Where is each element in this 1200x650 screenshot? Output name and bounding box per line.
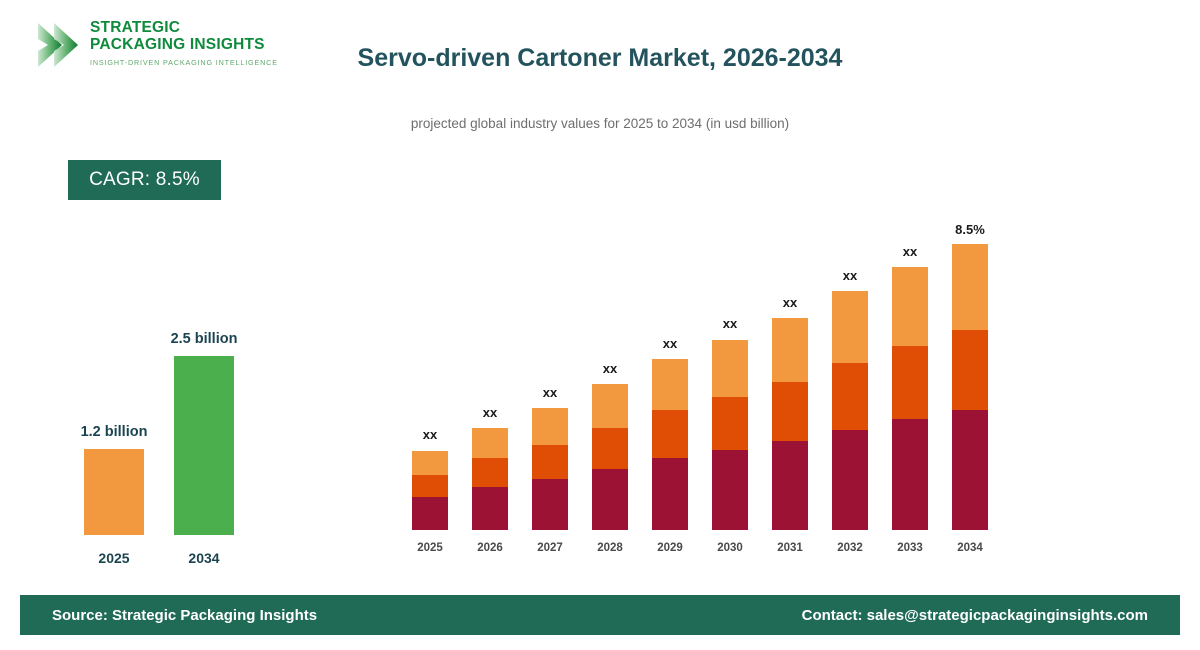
stacked-bar-year-label: 2026 (460, 542, 520, 554)
stacked-bar-segment (892, 267, 928, 346)
page-subtitle: projected global industry values for 202… (240, 116, 960, 131)
stacked-column: xx2027 (520, 195, 580, 560)
stacked-bar-segment (472, 458, 508, 487)
stacked-bar-top-label: xx (880, 244, 940, 259)
stacked-bar-segment (412, 451, 448, 475)
stacked-bar-top-label: xx (580, 361, 640, 376)
stacked-column: xx2031 (760, 195, 820, 560)
stacked-bar-segment (532, 408, 568, 445)
stacked-bar-segment (952, 244, 988, 330)
stacked-bar-segment (712, 397, 748, 450)
stacked-bar-year-label: 2033 (880, 542, 940, 554)
stacked-bar-segment (772, 318, 808, 382)
stacked-bar-segment (412, 475, 448, 497)
stacked-bar-segment (652, 458, 688, 530)
stacked-bar-year-label: 2034 (940, 542, 1000, 554)
chevron-right-icon (32, 20, 84, 70)
stacked-bar-year-label: 2029 (640, 542, 700, 554)
stacked-bar-segment (412, 497, 448, 530)
stacked-bar-top-label: xx (640, 336, 700, 351)
stacked-bar-top-label: xx (760, 295, 820, 310)
chart-page: STRATEGIC PACKAGING INSIGHTS INSIGHT-DRI… (0, 0, 1200, 650)
stacked-column: xx2026 (460, 195, 520, 560)
stacked-bar (652, 359, 688, 530)
stacked-bar-segment (772, 441, 808, 530)
stacked-column: xx2028 (580, 195, 640, 560)
footer-source: Source: Strategic Packaging Insights (52, 607, 317, 624)
stacked-bar (532, 408, 568, 530)
stacked-bar-segment (952, 410, 988, 530)
stacked-bar-segment (712, 340, 748, 397)
stacked-bar (712, 340, 748, 530)
stacked-bar (892, 267, 928, 530)
stacked-bar-year-label: 2031 (760, 542, 820, 554)
stacked-bar (772, 318, 808, 530)
comparison-bar (174, 356, 234, 535)
stacked-bar (412, 451, 448, 530)
stacked-column: xx2025 (400, 195, 460, 560)
stacked-bar-year-label: 2028 (580, 542, 640, 554)
stacked-bar-segment (652, 410, 688, 458)
stacked-bar-segment (592, 384, 628, 428)
page-title: Servo-driven Cartoner Market, 2026-2034 (240, 44, 960, 73)
stacked-bar-segment (832, 291, 868, 363)
stacked-bar (592, 384, 628, 530)
comparison-bar-year-label: 2025 (68, 550, 160, 566)
footer-contact: Contact: sales@strategicpackaginginsight… (802, 607, 1148, 624)
stacked-bar-segment (472, 428, 508, 458)
stacked-bar-top-label: xx (820, 268, 880, 283)
stacked-bar-top-label: xx (400, 427, 460, 442)
comparison-bar-chart: 1.2 billion20252.5 billion2034 (50, 300, 300, 570)
stacked-bar-year-label: 2030 (700, 542, 760, 554)
stacked-bar-segment (652, 359, 688, 410)
comparison-bar-value-label: 2.5 billion (158, 331, 250, 347)
logo-line-1: STRATEGIC (90, 19, 270, 36)
stacked-column: xx2030 (700, 195, 760, 560)
stacked-bar-year-label: 2032 (820, 542, 880, 554)
comparison-bar-year-label: 2034 (158, 550, 250, 566)
cagr-badge-label: CAGR: 8.5% (89, 169, 200, 191)
stacked-bar-segment (592, 469, 628, 530)
stacked-bar-segment (472, 487, 508, 530)
stacked-bar-top-label: xx (700, 316, 760, 331)
company-logo: STRATEGIC PACKAGING INSIGHTS INSIGHT-DRI… (32, 16, 272, 74)
cagr-badge: CAGR: 8.5% (68, 160, 221, 200)
stacked-column: xx2032 (820, 195, 880, 560)
stacked-column: xx2029 (640, 195, 700, 560)
stacked-bar-top-label: xx (520, 385, 580, 400)
stacked-bar-top-label: 8.5% (940, 222, 1000, 237)
comparison-column: 1.2 billion2025 (68, 300, 160, 570)
stacked-bar-segment (712, 450, 748, 530)
footer-bar: Source: Strategic Packaging Insights Con… (20, 595, 1180, 635)
comparison-bar-value-label: 1.2 billion (68, 424, 160, 440)
stacked-bar-segment (892, 419, 928, 530)
stacked-bar-segment (592, 428, 628, 469)
stacked-bar-year-label: 2027 (520, 542, 580, 554)
stacked-bar-segment (832, 363, 868, 430)
stacked-bar-segment (892, 346, 928, 419)
stacked-bar (472, 428, 508, 530)
stacked-bar (952, 244, 988, 530)
stacked-bar-top-label: xx (460, 405, 520, 420)
stacked-bar-segment (832, 430, 868, 530)
stacked-bar-segment (772, 382, 808, 441)
stacked-bar-segment (532, 445, 568, 479)
stacked-bar-chart: xx2025xx2026xx2027xx2028xx2029xx2030xx20… (400, 195, 1020, 560)
stacked-bar-segment (952, 330, 988, 410)
stacked-bar (832, 291, 868, 530)
stacked-bar-segment (532, 479, 568, 530)
stacked-column: xx2033 (880, 195, 940, 560)
comparison-column: 2.5 billion2034 (158, 300, 250, 570)
comparison-bar (84, 449, 144, 535)
stacked-bar-year-label: 2025 (400, 542, 460, 554)
stacked-column: 8.5%2034 (940, 195, 1000, 560)
